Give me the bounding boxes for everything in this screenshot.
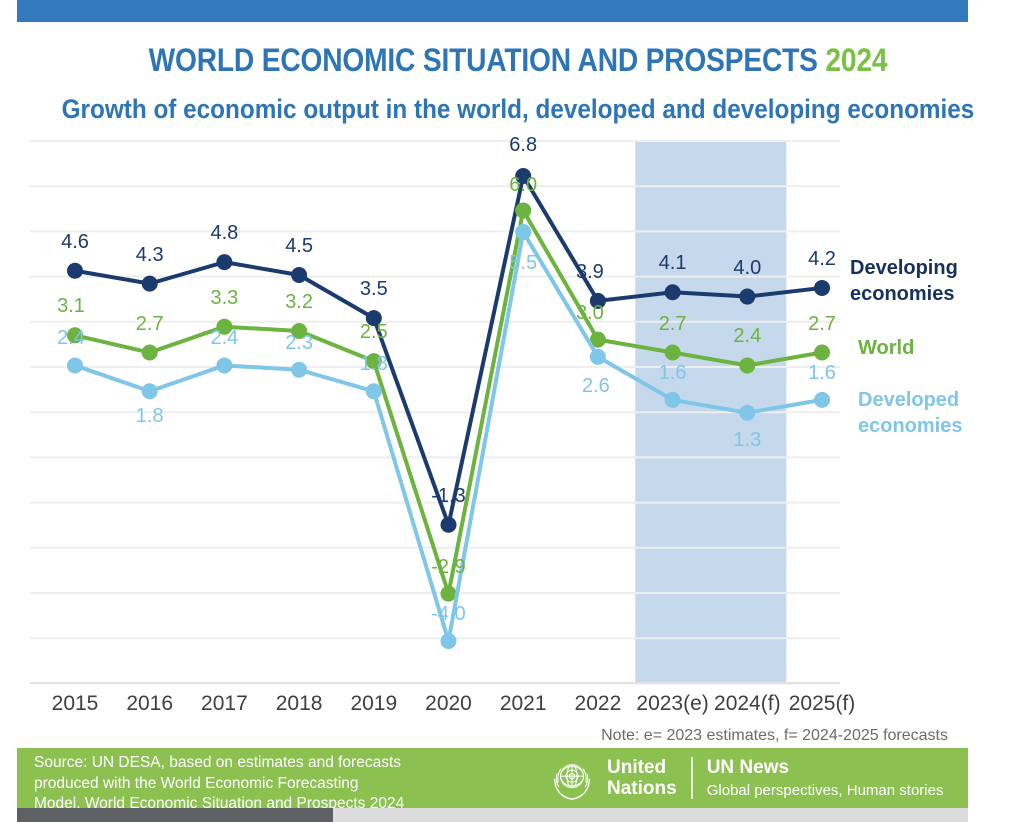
un-org-name: United Nations xyxy=(607,757,677,800)
legend-label-line2: economies xyxy=(858,414,962,440)
x-axis-label: 2018 xyxy=(276,692,323,716)
un-org-line2: Nations xyxy=(607,778,677,799)
data-point xyxy=(739,289,755,305)
x-axis-label: 2019 xyxy=(350,692,397,716)
legend-label-line2: economies xyxy=(850,282,958,308)
bottom-strip-light xyxy=(333,808,968,822)
infographic-root: WORLD ECONOMIC SITUATION AND PROSPECTS 2… xyxy=(0,0,1036,822)
footer-source-line1: Source: UN DESA, based on estimates and … xyxy=(34,753,404,774)
data-point xyxy=(814,392,830,408)
data-point xyxy=(665,345,681,361)
data-label: 4.1 xyxy=(659,252,687,275)
data-point xyxy=(739,357,755,373)
data-point xyxy=(142,276,158,292)
data-point xyxy=(441,633,457,649)
data-label: 2.4 xyxy=(210,327,238,350)
chart-note: Note: e= 2023 estimates, f= 2024-2025 fo… xyxy=(601,727,948,745)
data-point xyxy=(515,202,531,218)
data-point xyxy=(665,392,681,408)
data-label: 1.6 xyxy=(808,362,836,385)
un-news-block: UN News Global perspectives, Human stori… xyxy=(707,757,944,799)
data-label: -2.9 xyxy=(431,556,465,579)
data-label: 4.5 xyxy=(285,235,313,258)
legend-label-line1: World xyxy=(858,336,914,362)
data-label: 2.6 xyxy=(582,375,610,398)
chart-area: 4.64.34.84.53.5-1.36.83.94.14.04.23.12.7… xyxy=(0,0,1036,822)
data-label: 1.8 xyxy=(136,405,164,428)
x-axis-label: 2024(f) xyxy=(714,692,781,716)
data-label: 3.5 xyxy=(360,278,388,301)
x-axis-label: 2020 xyxy=(425,692,472,716)
footer-source: Source: UN DESA, based on estimates and … xyxy=(34,753,404,815)
data-label: -1.3 xyxy=(431,485,465,508)
un-emblem-icon xyxy=(549,755,595,801)
data-label: 2.7 xyxy=(659,313,687,336)
footer-source-line2: produced with the World Economic Forecas… xyxy=(34,774,404,795)
data-point xyxy=(216,357,232,373)
un-news-title: UN News xyxy=(707,757,944,779)
data-point xyxy=(291,267,307,283)
data-point xyxy=(515,224,531,240)
data-point xyxy=(291,362,307,378)
data-label: 6.8 xyxy=(509,134,537,157)
data-point xyxy=(739,405,755,421)
data-point xyxy=(67,357,83,373)
data-label: 6.0 xyxy=(509,174,537,197)
x-axis-label: 2015 xyxy=(52,692,99,716)
data-label: 1.6 xyxy=(659,362,687,385)
data-label: 4.0 xyxy=(733,257,761,280)
data-label: 2.4 xyxy=(733,325,761,348)
bottom-strip-dark xyxy=(17,808,333,822)
data-point xyxy=(67,263,83,279)
data-label: 3.9 xyxy=(576,261,604,284)
data-label: 4.3 xyxy=(136,244,164,267)
data-label: 3.3 xyxy=(210,287,238,310)
x-axis-label: 2025(f) xyxy=(789,692,856,716)
data-point xyxy=(814,280,830,296)
data-label: 2.3 xyxy=(285,332,313,355)
data-point xyxy=(142,383,158,399)
data-label: 1.8 xyxy=(360,353,388,376)
brand-divider xyxy=(691,757,693,799)
data-label: 2.5 xyxy=(360,321,388,344)
footer-brand: United Nations UN News Global perspectiv… xyxy=(549,754,943,802)
data-point xyxy=(441,517,457,533)
data-label: 5.5 xyxy=(509,252,537,275)
legend-item-2: Developedeconomies xyxy=(858,388,962,439)
x-axis-label: 2022 xyxy=(575,692,622,716)
data-label: 2.7 xyxy=(136,313,164,336)
data-point xyxy=(665,284,681,300)
data-point xyxy=(366,383,382,399)
legend-item-1: World xyxy=(858,336,914,362)
data-label: 3.1 xyxy=(57,295,85,318)
data-point xyxy=(590,349,606,365)
x-axis-label: 2021 xyxy=(500,692,547,716)
data-label: 3.2 xyxy=(285,291,313,314)
data-label: 3.0 xyxy=(576,302,604,325)
footer-bar: Source: UN DESA, based on estimates and … xyxy=(17,748,968,808)
data-label: -4.0 xyxy=(431,603,465,626)
x-axis-label: 2017 xyxy=(201,692,248,716)
x-axis-label: 2023(e) xyxy=(636,692,708,716)
data-label: 1.3 xyxy=(733,429,761,452)
legend-label-line1: Developed xyxy=(858,388,962,414)
data-label: 2.7 xyxy=(808,313,836,336)
data-point xyxy=(216,254,232,270)
data-point xyxy=(142,345,158,361)
data-label: 4.2 xyxy=(808,248,836,271)
data-label: 4.6 xyxy=(61,231,89,254)
data-point xyxy=(814,345,830,361)
data-label: 2.4 xyxy=(57,327,85,350)
x-axis-label: 2016 xyxy=(126,692,173,716)
un-org-line1: United xyxy=(607,757,677,778)
data-label: 4.8 xyxy=(210,222,238,245)
legend-item-0: Developingeconomies xyxy=(850,256,958,307)
legend-label-line1: Developing xyxy=(850,256,958,282)
un-news-tagline: Global perspectives, Human stories xyxy=(707,782,944,799)
